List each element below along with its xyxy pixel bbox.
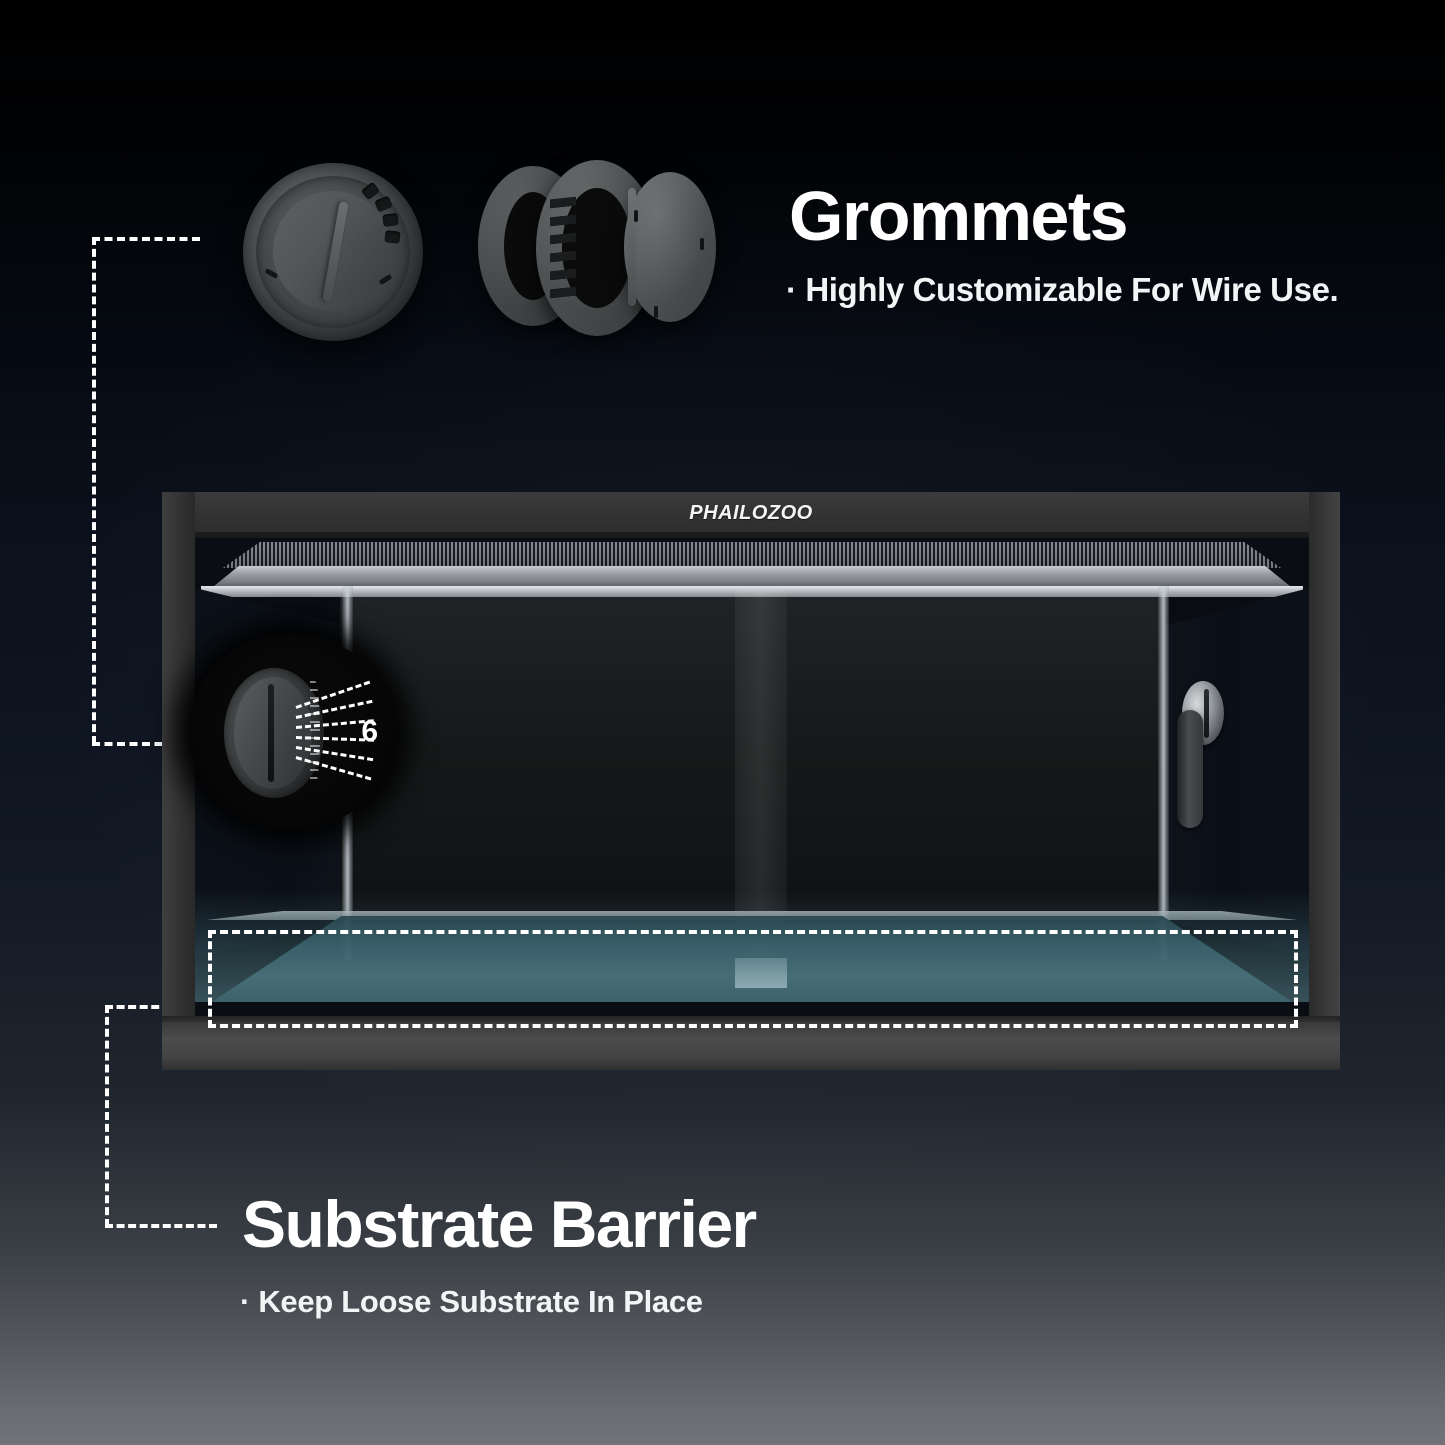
substrate-barrier-subtitle: · Keep Loose Substrate In Place [240, 1284, 703, 1320]
grommet-ring-notch [700, 238, 704, 250]
grommet-ring-cap-slot [628, 188, 636, 306]
grommet-vent [374, 196, 392, 213]
grommet-vent [382, 213, 399, 227]
grommets-title: Grommets [789, 176, 1127, 256]
grommet-vent-group [357, 185, 401, 247]
mesh-screen-top [223, 542, 1281, 568]
grommet-ring-notch [654, 306, 658, 318]
grommet-rings-render [478, 160, 718, 340]
grommet-count-badge: 6 [361, 715, 378, 749]
brand-logo: PHAILOZOO [162, 496, 1340, 530]
grommets-leader-line-top [92, 237, 200, 241]
grommets-leader-line-vertical [92, 237, 96, 744]
grommet-ring-teeth [550, 197, 576, 300]
door-handle-lever[interactable] [1177, 710, 1203, 828]
grommet-cap-render [243, 163, 423, 341]
grommet-vent [384, 230, 400, 244]
grommet-vent [361, 182, 380, 201]
substrate-leader-line-bottom [105, 1224, 217, 1228]
grommets-subtitle: · Highly Customizable For Wire Use. [786, 271, 1338, 309]
grommet-callout-bubble: 6 [188, 634, 396, 830]
terrarium-bottom-frame [162, 1022, 1340, 1070]
center-divider-foot [735, 958, 786, 988]
substrate-barrier-title: Substrate Barrier [242, 1186, 756, 1262]
grommet-slot [322, 201, 348, 302]
terrarium-left-frame [162, 492, 195, 1070]
terrarium-right-frame [1309, 492, 1340, 1070]
infographic-canvas: Grommets · Highly Customizable For Wire … [0, 0, 1445, 1445]
right-corner-edge [1158, 586, 1169, 960]
mesh-screen-rim [212, 566, 1293, 588]
substrate-leader-line-vertical [105, 1005, 109, 1227]
callout-grommet-teeth [310, 681, 320, 785]
grommet-ring-notch [634, 210, 638, 222]
callout-grommet-icon [224, 668, 324, 798]
callout-grommet-slot [268, 684, 274, 783]
center-glass-divider [735, 590, 786, 960]
